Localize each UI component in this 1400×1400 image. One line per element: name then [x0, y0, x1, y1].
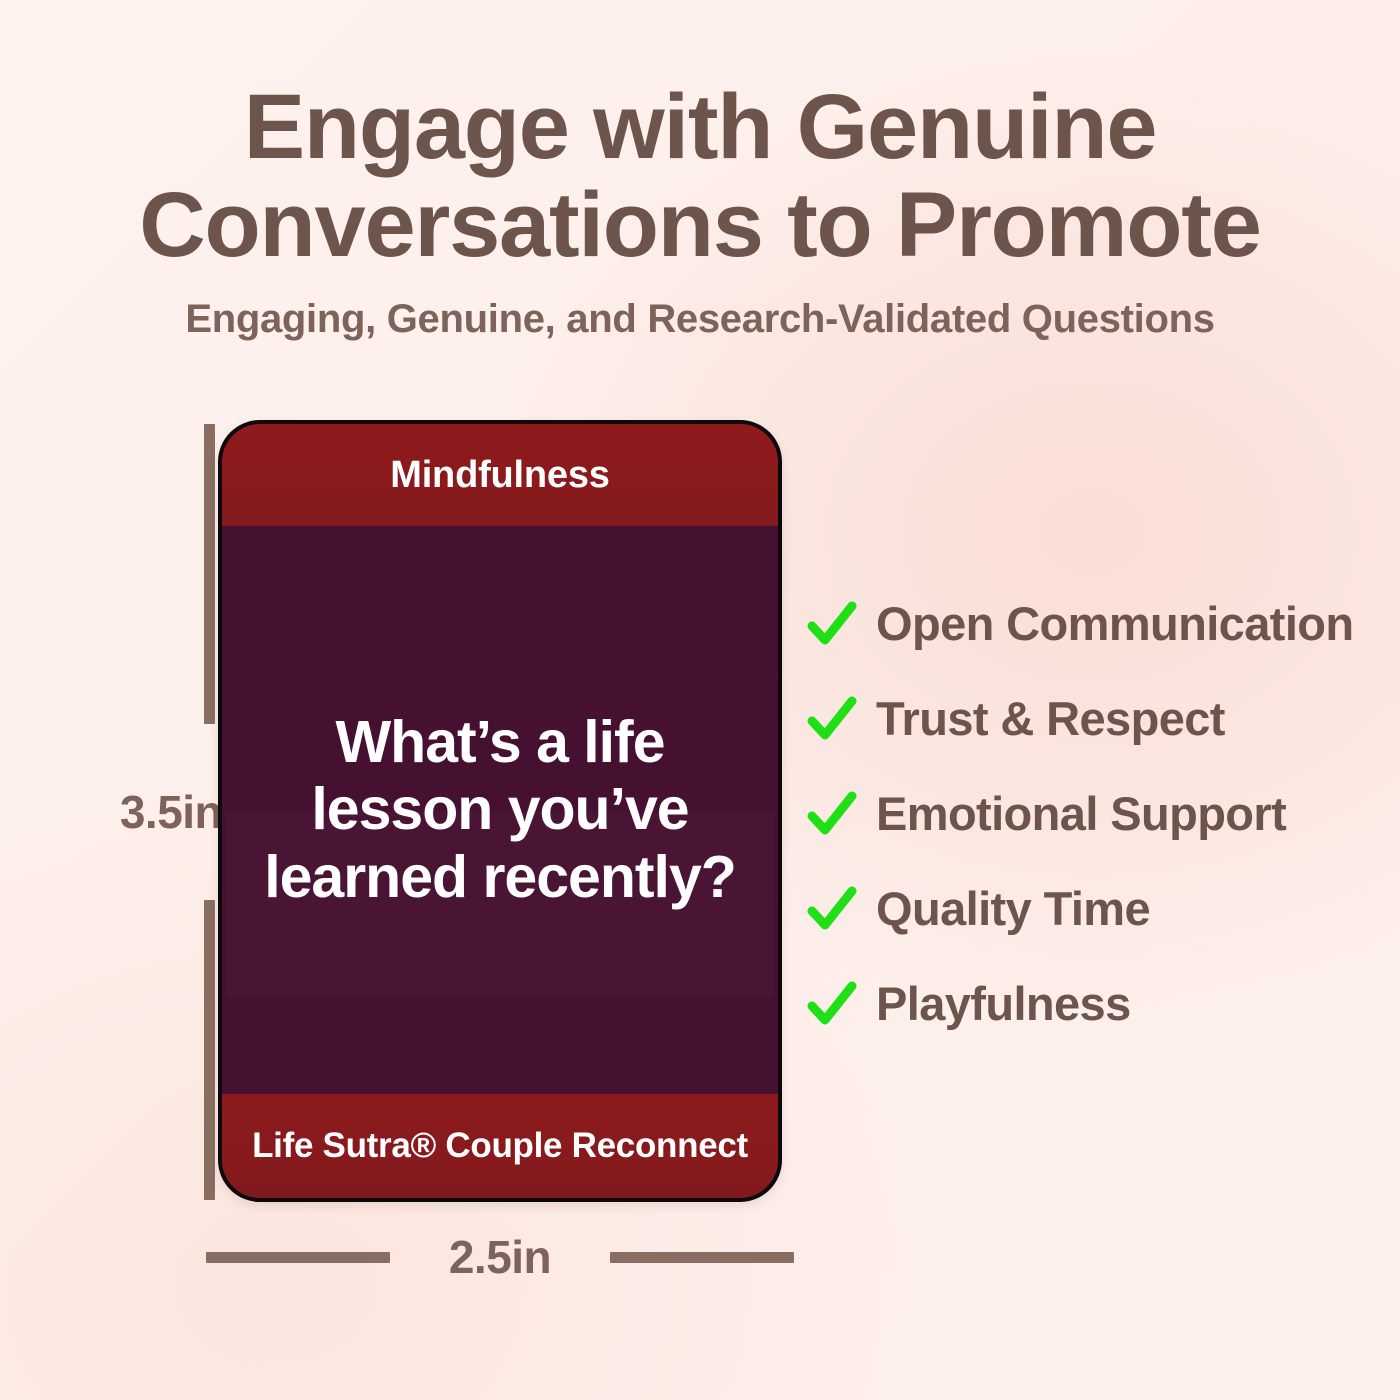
- dimension-width-bar-left: [206, 1252, 390, 1263]
- check-icon: [806, 598, 858, 650]
- product-card: Mindfulness What’s a life lesson you’ve …: [218, 420, 782, 1202]
- list-item: Quality Time: [806, 861, 1386, 956]
- list-item: Open Communication: [806, 576, 1386, 671]
- card-brand-label: Life Sutra® Couple Reconnect: [252, 1126, 748, 1166]
- card-question-text: What’s a life lesson you’ve learned rece…: [264, 709, 736, 911]
- dimension-height-bar-bottom: [204, 900, 215, 1200]
- poster-canvas: Engage with Genuine Conversations to Pro…: [0, 0, 1400, 1400]
- list-item: Emotional Support: [806, 766, 1386, 861]
- benefit-label: Emotional Support: [876, 786, 1286, 841]
- check-icon: [806, 693, 858, 745]
- card-footer: Life Sutra® Couple Reconnect: [222, 1094, 778, 1198]
- benefit-label: Open Communication: [876, 596, 1354, 651]
- card-body: What’s a life lesson you’ve learned rece…: [222, 526, 778, 1094]
- card-category-label: Mindfulness: [390, 454, 609, 497]
- card-header: Mindfulness: [222, 424, 778, 526]
- benefit-label: Quality Time: [876, 881, 1150, 936]
- list-item: Playfulness: [806, 956, 1386, 1051]
- headline-block: Engage with Genuine Conversations to Pro…: [0, 78, 1400, 342]
- check-icon: [806, 978, 858, 1030]
- dimension-width-bar-right: [610, 1252, 794, 1263]
- benefit-label: Trust & Respect: [876, 691, 1225, 746]
- list-item: Trust & Respect: [806, 671, 1386, 766]
- page-subtitle: Engaging, Genuine, and Research-Validate…: [28, 297, 1372, 342]
- dimension-width: 2.5in: [206, 1222, 794, 1292]
- check-icon: [806, 788, 858, 840]
- dimension-width-label: 2.5in: [443, 1230, 557, 1284]
- benefit-label: Playfulness: [876, 976, 1131, 1031]
- check-icon: [806, 883, 858, 935]
- dimension-height-bar-top: [204, 424, 215, 724]
- page-title: Engage with Genuine Conversations to Pro…: [28, 78, 1372, 275]
- benefits-list: Open Communication Trust & Respect Emoti…: [806, 576, 1386, 1051]
